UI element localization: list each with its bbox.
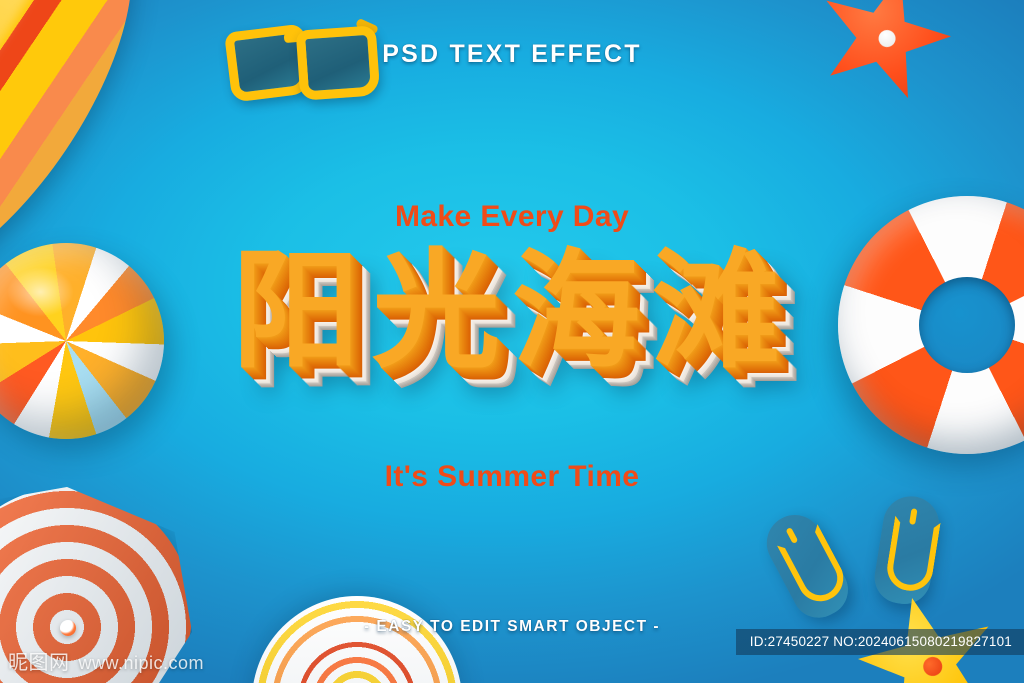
site-name-cn: 昵图网 bbox=[8, 646, 70, 675]
subtitle-top: Make Every Day bbox=[0, 200, 1024, 234]
psd-text-effect-label: PSD TEXT EFFECT bbox=[0, 40, 1024, 69]
site-url: www.nipic.com bbox=[79, 653, 205, 674]
main-headline: 阳光海滩 bbox=[0, 236, 1024, 387]
flip-flop-strap bbox=[777, 524, 851, 609]
image-id-bar: ID:27450227 NO:20240615080219827101 bbox=[736, 629, 1024, 655]
flip-flop-left bbox=[757, 505, 857, 627]
flip-flop-sole bbox=[757, 505, 857, 627]
flip-flop-sole bbox=[871, 492, 943, 607]
starfish-dot bbox=[922, 655, 945, 678]
subtitle-bottom: It's Summer Time bbox=[0, 460, 1024, 494]
poster-canvas: PSD TEXT EFFECT Make Every Day 阳光海滩 It's… bbox=[0, 0, 1024, 683]
rainbow-shading bbox=[252, 596, 462, 683]
flip-flop-strap bbox=[884, 516, 941, 594]
rainbow-float-decoration bbox=[252, 596, 462, 683]
site-watermark: 昵图网 www.nipic.com bbox=[8, 646, 204, 675]
flip-flop-right bbox=[871, 492, 943, 607]
